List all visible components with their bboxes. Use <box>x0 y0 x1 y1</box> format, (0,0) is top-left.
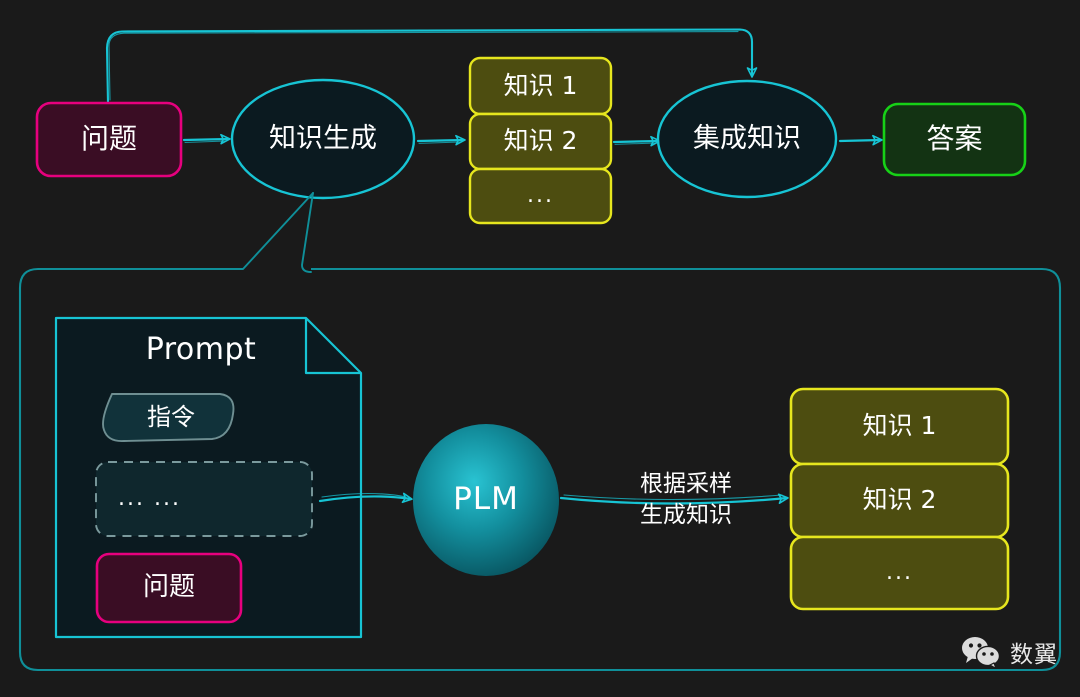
knowledge-stack-top <box>470 58 611 223</box>
knowledge-item-2 <box>791 464 1008 537</box>
knowledge-stack-bottom <box>791 389 1008 609</box>
prompt-question-node[interactable] <box>97 554 241 622</box>
question-node[interactable] <box>37 103 181 176</box>
knowledge-item-3 <box>791 537 1008 609</box>
callout-connector <box>243 193 313 272</box>
knowledge-item-1 <box>470 58 611 114</box>
answer-node[interactable] <box>884 104 1025 175</box>
edge-knowledge-to-integration <box>614 141 659 144</box>
instruction-chip[interactable] <box>103 394 233 441</box>
edge-generation-to-knowledge <box>418 140 464 143</box>
watermark-text: 数翼 <box>1010 635 1058 669</box>
wechat-icon <box>961 635 1003 669</box>
plm-node[interactable] <box>413 424 559 576</box>
knowledge-item-3 <box>470 169 611 223</box>
knowledge-generation-node[interactable] <box>232 80 414 198</box>
diagram-svg <box>0 0 1080 697</box>
edge-plm-to-knowledge <box>561 495 787 504</box>
edge-integration-to-answer <box>840 140 881 141</box>
prompt-placeholder-box[interactable] <box>96 462 312 536</box>
knowledge-item-1 <box>791 389 1008 464</box>
knowledge-integration-node[interactable] <box>658 81 836 197</box>
watermark: 数翼 <box>961 635 1058 669</box>
knowledge-item-2 <box>470 114 611 169</box>
edge-question-to-generation <box>184 139 229 143</box>
edge-feedback <box>107 30 752 104</box>
diagram-canvas: 问题 知识生成 知识 1 知识 2 ... 集成知识 答案 Prompt 指令 … <box>0 0 1080 697</box>
